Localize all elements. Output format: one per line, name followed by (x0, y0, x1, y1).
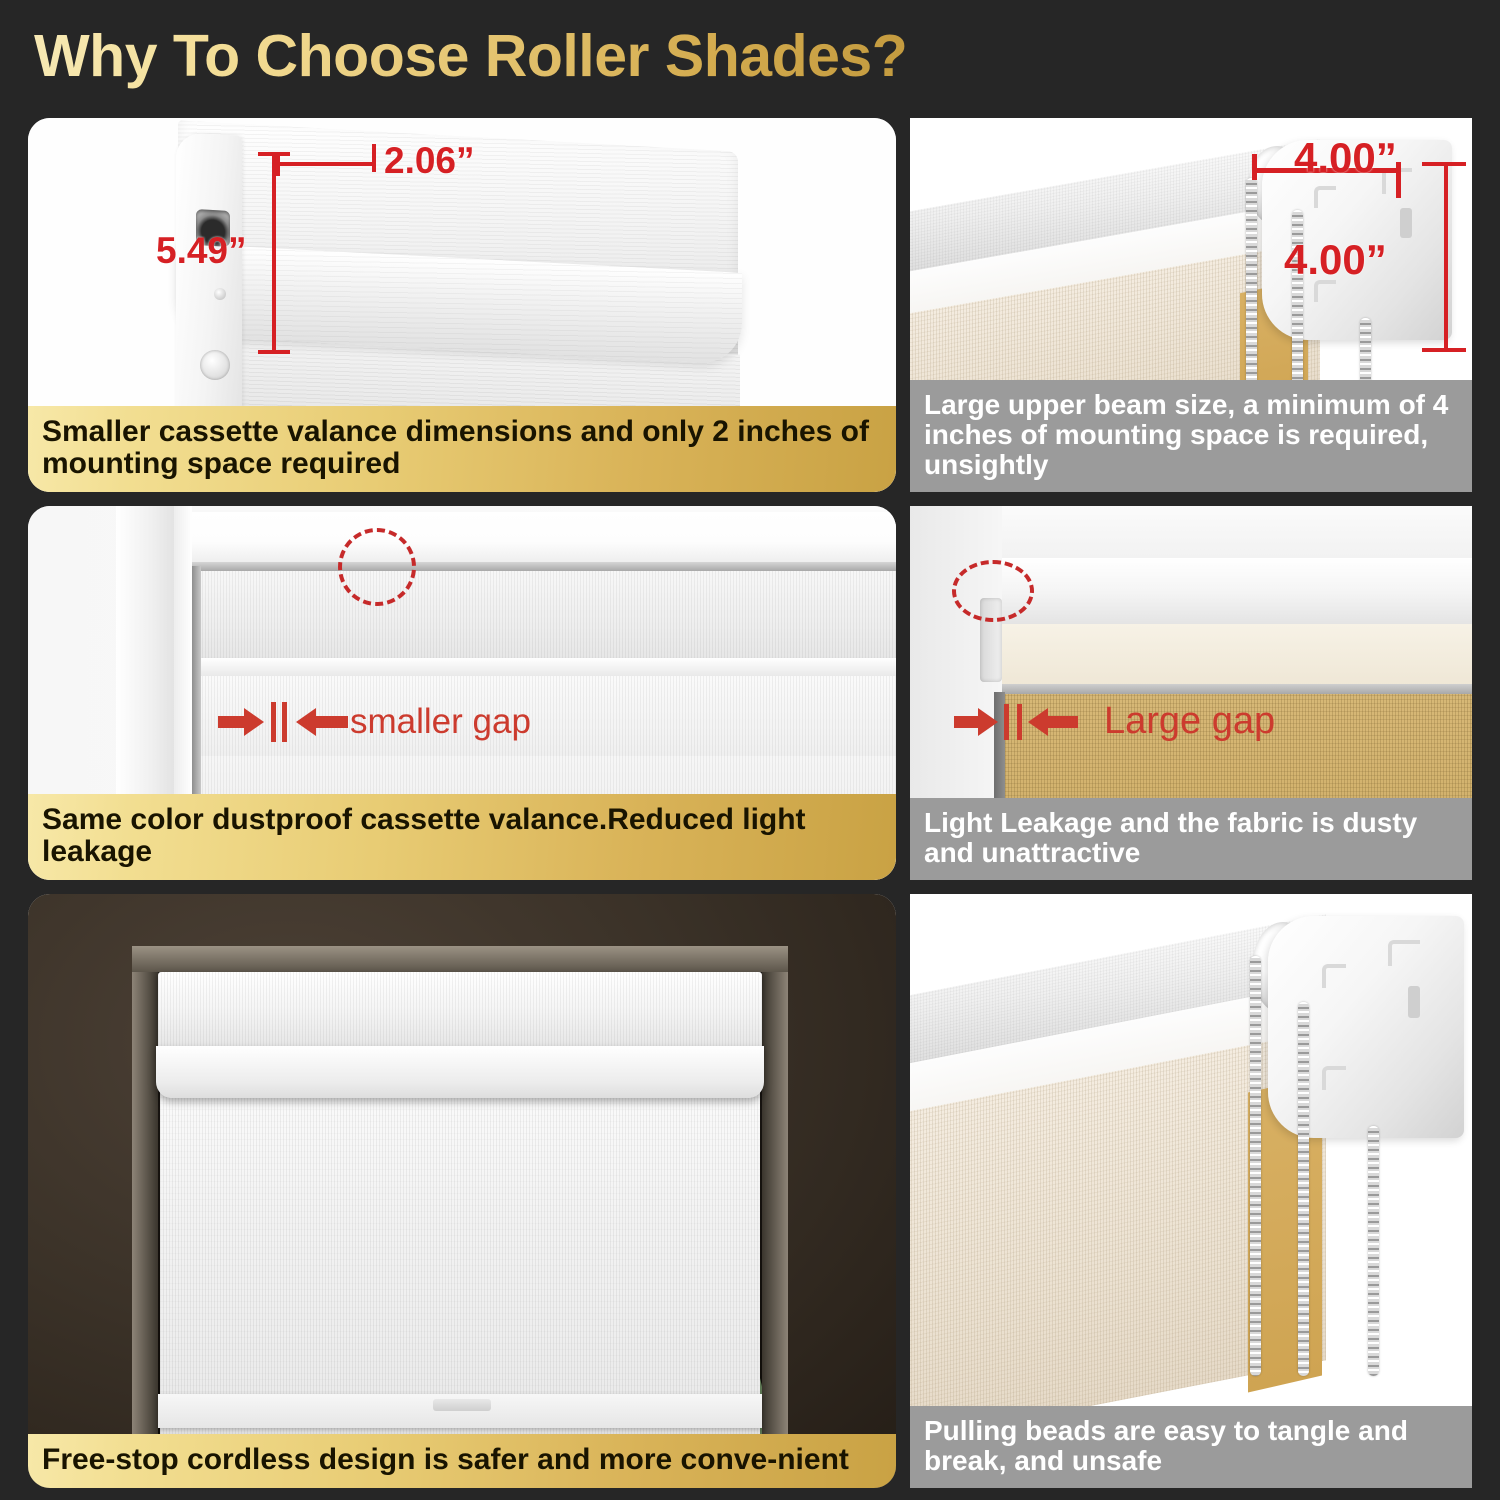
panel-light-leakage[interactable]: Large gap Light Leakage and the fabric i… (910, 506, 1472, 880)
gap-arrows-icon (954, 704, 1104, 740)
panel-large-upper-beam[interactable]: 4.00” 4.00” Large upper beam size, a min… (910, 118, 1472, 492)
caption-cassette-valance-dimensions: Smaller cassette valance dimensions and … (28, 406, 896, 492)
bead-chain (1298, 1002, 1309, 1376)
bead-chain (1250, 956, 1261, 1376)
photo-window-scene (28, 894, 896, 1488)
dim-height-line (272, 154, 276, 354)
panel-grid: 2.06” 5.49” Smaller cassette valance dim… (0, 106, 1500, 1500)
caption-large-upper-beam: Large upper beam size, a minimum of 4 in… (910, 380, 1472, 492)
caption-pulling-beads: Pulling beads are easy to tangle and bre… (910, 1406, 1472, 1488)
panel-free-stop-cordless[interactable]: Free-stop cordless design is safer and m… (28, 894, 896, 1488)
dim-height-label: 5.49” (156, 230, 247, 272)
bead-chain (1368, 1126, 1379, 1376)
page-title: Why To Choose Roller Shades? (34, 22, 907, 90)
dim-width-label: 4.00” (1294, 134, 1397, 182)
gap-callout-label: Large gap (1104, 700, 1275, 743)
caption-free-stop-cordless: Free-stop cordless design is safer and m… (28, 1434, 896, 1488)
dim-height-label: 4.00” (1284, 236, 1387, 284)
caption-dustproof-cassette-valance: Same color dustproof cassette valance.Re… (28, 794, 896, 880)
dim-height-line (1444, 162, 1448, 352)
infographic-page: Why To Choose Roller Shades? 2.06” (0, 0, 1500, 1500)
dim-width-line (276, 162, 376, 166)
highlight-circle-gap (338, 528, 416, 606)
gap-callout-label: smaller gap (350, 702, 531, 742)
panel-dustproof-cassette-valance[interactable]: smaller gap Same color dustproof cassett… (28, 506, 896, 880)
panel-pulling-beads[interactable]: Pulling beads are easy to tangle and bre… (910, 894, 1472, 1488)
dim-width-label: 2.06” (384, 140, 475, 182)
highlight-circle-gap (952, 560, 1034, 622)
caption-light-leakage: Light Leakage and the fabric is dusty an… (910, 798, 1472, 880)
photo-pulling-beads (910, 894, 1472, 1488)
panel-cassette-valance-dimensions[interactable]: 2.06” 5.49” Smaller cassette valance dim… (28, 118, 896, 492)
